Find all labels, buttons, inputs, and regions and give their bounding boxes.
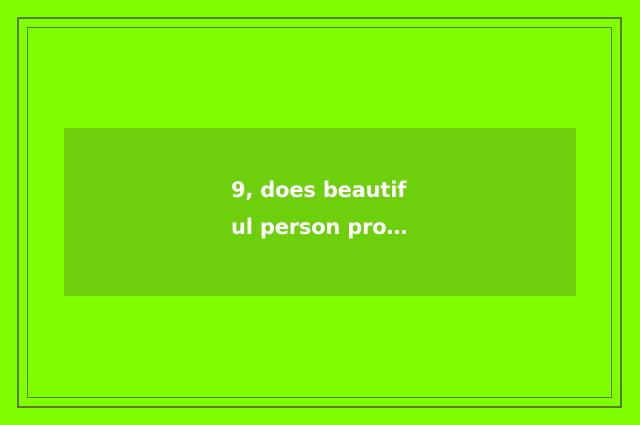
truncated-message-text: 9, does beautif ul person pro…	[231, 172, 431, 246]
message-line-1: 9, does beautif	[231, 172, 431, 209]
message-line-2: ul person pro…	[231, 209, 431, 246]
screenshot-canvas: 9, does beautif ul person pro…	[0, 0, 640, 425]
